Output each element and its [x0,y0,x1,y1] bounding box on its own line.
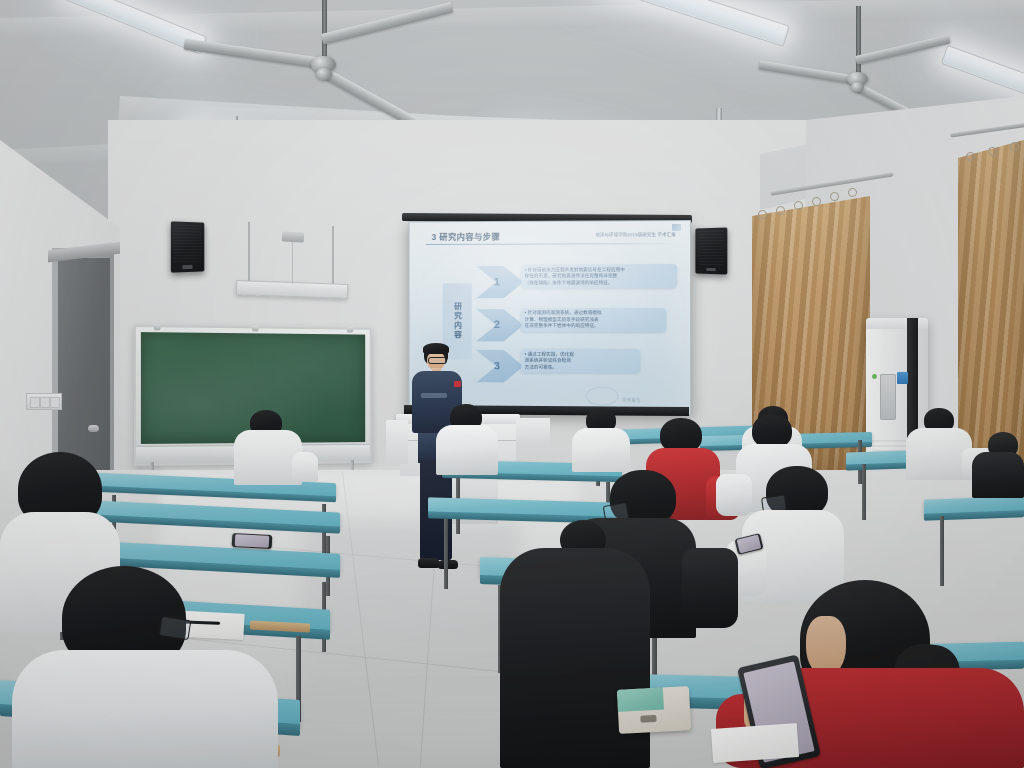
curtain-ring [758,210,767,219]
slide-bullet-line: 在非完整条件下岩体中的响应特征。 [525,323,663,330]
ac-energy-label [897,372,908,384]
slide-bullet-line: （存在缺陷）条件下地震波场的响应特征。 [525,280,674,287]
student-jacket [972,452,1024,498]
wall-speaker-right [695,227,727,274]
smartphone-on-desk[interactable] [232,533,273,549]
notebook[interactable] [711,723,799,763]
slide-corner-accent [672,224,681,231]
student-shirt [572,428,630,472]
tissue-box-opening [640,715,656,723]
student-jacket [500,548,650,768]
slide-bullet-box-3: 通过工程实践，优化观 测系统并验证综合检测 方法的可靠性。 [521,349,640,373]
slide-bullet-box-2: 针对观测的观测系统，通过数值模拟 计算、物理模型实验等手段研究浅表 在非完整条件… [521,308,666,332]
wall-power-outlets[interactable] [26,393,62,410]
classroom-photo: 3 研究内容与步骤 地球与环境学院2019级研究生 学术汇报 研究内容 1 2 … [0,0,1024,768]
presenter-hair-top [423,343,449,354]
curtain-ring [848,188,857,197]
student-arm [716,474,752,516]
curtain-ring [776,206,785,215]
slide-title: 3 研究内容与步骤 [432,231,500,243]
student-arm [682,548,738,628]
curtain-ring [794,201,803,210]
curtain-ring [830,192,839,201]
tissue-box-lid [617,688,664,712]
door-handle[interactable] [88,425,99,432]
presenter-shoe [418,558,440,568]
hanger-rod [248,222,250,284]
curtain-ring [988,147,997,156]
student-arm [292,452,318,482]
slide-watermark-logo [585,387,618,406]
curtain-ring [1010,142,1019,151]
slide-step-number-1: 1 [494,276,500,288]
slide-step-number-3: 3 [494,360,500,372]
wall-mounted-device [282,231,304,242]
ac-power-indicator [872,374,877,379]
student-shirt [436,425,498,475]
presenter-shoe [438,560,458,569]
slide-watermark-text: 学术报告 [622,398,641,404]
wall-speaker-left [171,221,204,272]
slide-chevron-1: 1 [476,266,523,299]
slide-chevron-2: 2 [476,309,523,342]
glasses-icon [428,357,447,364]
student-hair [752,414,792,448]
hanger-rod [332,226,334,286]
jacket-emblem [454,381,461,387]
slide-title-underline [426,243,673,245]
student-face [806,616,846,676]
jacket-text [421,393,447,398]
ac-control-panel[interactable] [880,374,896,420]
slide-bullet-line: 方法的可靠性。 [525,364,638,371]
slide-vertical-label-text: 研究内容 [453,303,461,341]
slide-bullet-box-1: 针对目前水力压裂声发射地震信号在工程应用中 存在的不足，研究地震波传法在完整和非… [521,264,677,288]
curtain-ring [966,152,975,161]
slide-step-number-2: 2 [494,319,500,331]
ac-top-panel [866,318,928,329]
student-shirt [12,650,278,768]
slide-header-meta: 地球与环境学院2019级研究生 学术汇报 [596,232,676,238]
tissue-box[interactable] [617,686,691,734]
slide-chevron-3: 3 [476,350,523,383]
curtain-ring [812,197,821,206]
